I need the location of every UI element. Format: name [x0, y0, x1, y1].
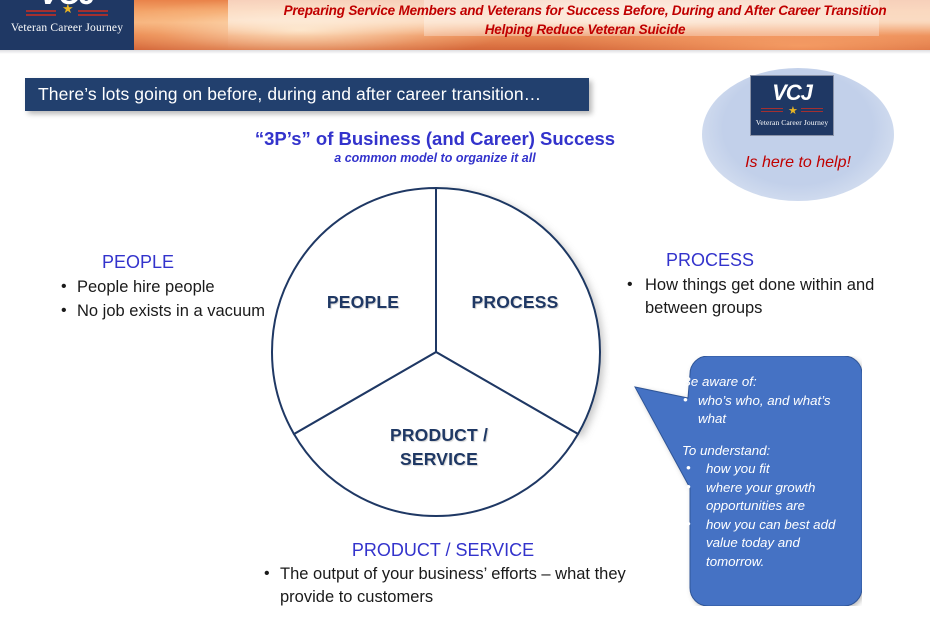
- header-bottom-shadow: [0, 50, 930, 54]
- header-banner: Preparing Service Members and Veterans f…: [0, 0, 930, 50]
- pie-label-product-service: PRODUCT / SERVICE: [354, 423, 524, 471]
- process-bullet-list: How things get done within and between g…: [625, 274, 915, 320]
- list-item: The output of your business’ efforts – w…: [262, 563, 648, 609]
- vcj-badge-logo-mark: VCJ: [751, 80, 833, 106]
- people-heading: PEOPLE: [45, 252, 275, 273]
- list-item: where your growth opportunities are: [682, 479, 854, 516]
- chart-subtitle: a common model to organize it all: [200, 151, 670, 165]
- list-item: how you can best add value today and tom…: [682, 516, 854, 572]
- product-service-bullet-list: The output of your business’ efforts – w…: [238, 563, 648, 609]
- list-item: How things get done within and between g…: [625, 274, 915, 320]
- people-bullet-list: People hire people No job exists in a va…: [45, 276, 275, 323]
- awareness-callout-bubble: Be aware of: who’s who, and what’s what …: [630, 356, 862, 606]
- vcj-badge-rule-lines: ★: [761, 106, 823, 116]
- process-heading: PROCESS: [625, 250, 915, 271]
- callout-spacer: [682, 429, 854, 442]
- people-text-block: PEOPLE People hire people No job exists …: [45, 252, 275, 324]
- callout-list-1: who’s who, and what’s what: [682, 392, 854, 429]
- list-item: who’s who, and what’s what: [682, 392, 854, 429]
- vcj-help-badge[interactable]: VCJ ★ Veteran Career Journey Is here to …: [702, 68, 894, 201]
- list-item: No job exists in a vacuum: [59, 300, 275, 323]
- slide-title-text: There’s lots going on before, during and…: [25, 84, 541, 105]
- header-tagline: Preparing Service Members and Veterans f…: [240, 1, 930, 39]
- pie-label-people: PEOPLE: [290, 292, 436, 313]
- vcj-badge-caption: Veteran Career Journey: [751, 118, 833, 127]
- callout-text: Be aware of: who’s who, and what’s what …: [682, 373, 854, 571]
- header-tagline-line2: Helping Reduce Veteran Suicide: [240, 20, 930, 39]
- process-text-block: PROCESS How things get done within and b…: [625, 250, 915, 321]
- slide-title-bar: There’s lots going on before, during and…: [25, 78, 589, 111]
- star-icon: ★: [62, 3, 73, 14]
- pie-label-product-line2: SERVICE: [400, 449, 478, 469]
- vcj-help-text: Is here to help!: [702, 154, 894, 172]
- chart-title: “3P’s” of Business (and Career) Success: [200, 128, 670, 150]
- list-item: how you fit: [682, 460, 854, 479]
- product-service-heading: PRODUCT / SERVICE: [238, 540, 648, 561]
- pie-label-process: PROCESS: [442, 292, 588, 313]
- list-item: People hire people: [59, 276, 275, 299]
- callout-heading-1: Be aware of:: [682, 373, 854, 392]
- callout-heading-2: To understand:: [682, 442, 854, 461]
- three-p-pie-diagram: PEOPLE PROCESS PRODUCT / SERVICE: [262, 180, 610, 525]
- header-tagline-line1: Preparing Service Members and Veterans f…: [284, 3, 887, 18]
- vcj-header-logo[interactable]: VCJ ★ Veteran Career Journey: [0, 0, 134, 50]
- star-icon: ★: [788, 106, 797, 116]
- pie-label-product-line1: PRODUCT /: [390, 425, 488, 445]
- pie-svg: [262, 180, 610, 525]
- vcj-logo-caption: Veteran Career Journey: [0, 22, 134, 34]
- product-service-text-block: PRODUCT / SERVICE The output of your bus…: [238, 540, 648, 610]
- callout-list-2: how you fit where your growth opportunit…: [682, 460, 854, 571]
- vcj-badge-logo: VCJ ★ Veteran Career Journey: [750, 75, 834, 136]
